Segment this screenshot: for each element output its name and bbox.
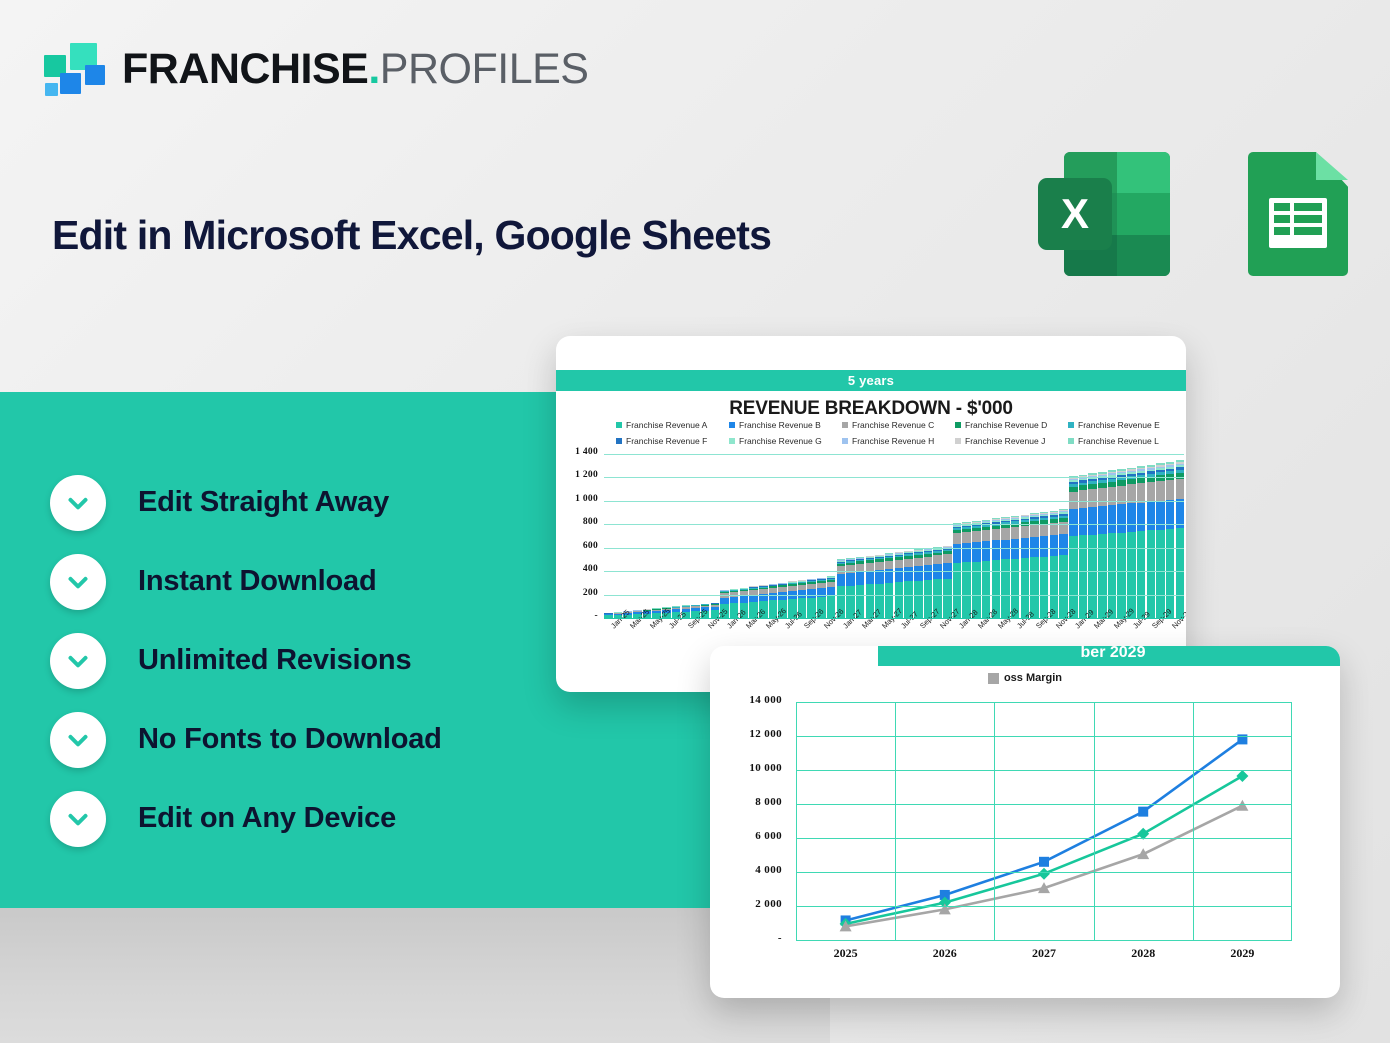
bar-segment <box>846 573 855 586</box>
bar-segment <box>1176 528 1185 618</box>
google-sheets-icon <box>1248 152 1348 276</box>
microsoft-excel-icon: X <box>1038 152 1170 276</box>
bar-segment <box>1147 502 1156 531</box>
bar-segment <box>837 566 846 573</box>
line-series <box>846 776 1243 924</box>
legend-item: Franchise Revenue A <box>616 420 729 430</box>
bar-segment <box>924 565 933 580</box>
bar-segment <box>1137 483 1146 502</box>
gridline <box>604 477 1184 478</box>
y-axis-tick-label: 6 000 <box>755 830 782 842</box>
bar-segment <box>1117 504 1126 532</box>
bar-segment <box>1098 506 1107 534</box>
legend-label: Franchise Revenue H <box>852 436 934 446</box>
data-point-marker <box>1236 800 1248 811</box>
bar-segment <box>1001 528 1010 539</box>
y-axis-tick-label: 800 <box>583 517 598 527</box>
gridline <box>796 702 1292 703</box>
y-axis-tick-label: 4 000 <box>755 864 782 876</box>
legend-swatch <box>955 422 961 428</box>
line-chart-svg <box>796 702 1292 940</box>
stacked-bar <box>846 558 855 618</box>
legend-swatch <box>729 422 735 428</box>
bar-segment <box>875 562 884 570</box>
feature-item: Edit on Any Device <box>50 779 442 858</box>
bar-segment <box>1127 503 1136 531</box>
line-chart-plot-area <box>796 702 1292 940</box>
bar-segment <box>1176 479 1185 499</box>
legend-label: Franchise Revenue G <box>739 436 822 446</box>
brand-name-bold: FRANCHISE <box>122 45 368 93</box>
gridline <box>796 804 1292 805</box>
excel-x-glyph: X <box>1038 178 1112 250</box>
bar-segment <box>914 558 923 566</box>
chevron-down-icon <box>50 475 106 531</box>
legend-swatch <box>842 422 848 428</box>
gridline <box>604 454 1184 455</box>
feature-item: Unlimited Revisions <box>50 621 442 700</box>
gridline <box>796 838 1292 839</box>
bar-segment <box>1156 481 1165 501</box>
x-axis-tick-label: 2026 <box>895 946 994 961</box>
brand-logo: FRANCHISE.PROFILES <box>44 43 588 95</box>
gridline <box>796 702 797 940</box>
stacked-bar <box>914 549 923 618</box>
brand-wordmark: FRANCHISE.PROFILES <box>122 45 588 94</box>
stacked-bar <box>962 522 971 618</box>
bar-chart-y-axis: -2004006008001 0001 2001 400 <box>556 336 602 636</box>
stacked-bar <box>1001 517 1010 618</box>
legend-label: Franchise Revenue L <box>1078 436 1159 446</box>
legend-label: Franchise Revenue E <box>1078 420 1160 430</box>
bar-segment <box>1079 508 1088 535</box>
bar-segment <box>1001 540 1010 560</box>
legend-item: Franchise Revenue F <box>616 436 729 446</box>
bar-chart-bars <box>604 454 1184 618</box>
gridline <box>604 524 1184 525</box>
data-point-marker <box>1039 857 1049 867</box>
legend-label: Franchise Revenue B <box>739 420 821 430</box>
bar-segment <box>1098 534 1107 618</box>
bar-segment <box>904 567 913 582</box>
bar-segment <box>1030 557 1039 618</box>
bar-segment <box>1108 533 1117 618</box>
bar-segment <box>1166 480 1175 500</box>
legend-label: Franchise Revenue J <box>965 436 1045 446</box>
feature-item-label: No Fonts to Download <box>138 723 442 756</box>
data-point-marker <box>1137 848 1149 859</box>
stacked-bar <box>1117 469 1126 618</box>
bar-segment <box>1059 555 1068 618</box>
legend-swatch <box>729 438 735 444</box>
bar-segment <box>817 588 826 597</box>
bar-segment <box>1030 525 1039 537</box>
line-chart-banner: ber 2029 <box>878 646 1340 666</box>
line-series <box>846 739 1243 920</box>
bar-segment <box>1137 503 1146 532</box>
bar-segment <box>866 571 875 585</box>
bar-segment <box>856 572 865 585</box>
stacked-bar <box>1040 512 1049 618</box>
y-axis-tick-label: 10 000 <box>749 762 782 774</box>
legend-item: Franchise Revenue C <box>842 420 955 430</box>
legend-swatch <box>1068 422 1074 428</box>
bar-segment <box>1156 530 1165 618</box>
bar-segment <box>953 533 962 544</box>
bar-segment <box>943 554 952 563</box>
gridline <box>604 501 1184 502</box>
legend-label: Franchise Revenue C <box>852 420 934 430</box>
feature-list: Edit Straight AwayInstant DownloadUnlimi… <box>50 463 442 858</box>
x-axis-tick-label: 2025 <box>796 946 895 961</box>
bar-segment <box>914 566 923 581</box>
x-axis-tick-label: 2027 <box>994 946 1093 961</box>
gridline <box>994 702 995 940</box>
gridline <box>796 940 1292 941</box>
y-axis-tick-label: 1 200 <box>575 470 598 480</box>
bar-segment <box>1011 527 1020 538</box>
bar-segment <box>992 540 1001 560</box>
feature-item-label: Unlimited Revisions <box>138 644 411 677</box>
legend-label: oss Margin <box>1004 672 1062 684</box>
gridline <box>796 906 1292 907</box>
data-point-marker <box>1138 807 1148 817</box>
bar-segment <box>1079 490 1088 508</box>
legend-item: Franchise Revenue B <box>729 420 842 430</box>
stacked-bar <box>1050 511 1059 618</box>
y-axis-tick-label: 12 000 <box>749 728 782 740</box>
bar-segment <box>972 531 981 542</box>
feature-item: No Fonts to Download <box>50 700 442 779</box>
bar-segment <box>1108 487 1117 506</box>
legend-item: Franchise Revenue J <box>955 436 1068 446</box>
legend-item: Franchise Revenue E <box>1068 420 1181 430</box>
gridline <box>604 548 1184 549</box>
legend-label: Franchise Revenue A <box>626 420 707 430</box>
gridline <box>604 571 1184 572</box>
feature-item: Instant Download <box>50 542 442 621</box>
legend-swatch <box>988 673 999 684</box>
chevron-down-icon <box>50 554 106 610</box>
stacked-bar <box>904 551 913 618</box>
brand-name-light: PROFILES <box>380 45 589 93</box>
data-point-marker <box>1038 868 1050 880</box>
bar-segment <box>1040 557 1049 618</box>
bar-segment <box>904 559 913 567</box>
bar-segment <box>1059 534 1068 555</box>
gridline <box>1291 702 1292 940</box>
bar-segment <box>1156 501 1165 530</box>
y-axis-tick-label: 1 000 <box>575 494 598 504</box>
legend-swatch <box>1068 438 1074 444</box>
legend-label: Franchise Revenue D <box>965 420 1047 430</box>
legend-item: Franchise Revenue G <box>729 436 842 446</box>
bar-chart-banner: 5 years <box>556 370 1186 391</box>
feature-item-label: Edit on Any Device <box>138 802 396 835</box>
bar-segment <box>972 542 981 561</box>
bar-segment <box>1147 482 1156 501</box>
bar-segment <box>1098 488 1107 506</box>
bar-segment <box>982 541 991 560</box>
gridline <box>796 770 1292 771</box>
bar-segment <box>962 532 971 543</box>
bar-segment <box>1050 535 1059 556</box>
bar-segment <box>749 595 758 602</box>
bar-chart-legend: Franchise Revenue AFranchise Revenue BFr… <box>616 420 1181 446</box>
squares-logo-icon <box>44 43 106 95</box>
bar-segment <box>962 543 971 562</box>
stacked-bar <box>1079 475 1088 618</box>
y-axis-tick-label: - <box>778 932 782 944</box>
bar-segment <box>1108 505 1117 533</box>
bar-segment <box>1117 533 1126 619</box>
gridline <box>796 872 1292 873</box>
axis-baseline <box>604 618 1184 619</box>
stacked-bar <box>885 553 894 618</box>
x-axis-tick-label: 2028 <box>1094 946 1193 961</box>
legend-swatch <box>842 438 848 444</box>
legend-swatch <box>616 438 622 444</box>
bar-segment <box>933 555 942 564</box>
brand-dot: . <box>368 45 379 93</box>
chevron-down-icon <box>50 712 106 768</box>
stacked-bar <box>992 518 1001 618</box>
stacked-bar <box>1021 515 1030 618</box>
profit-forecast-card: ber 2029 oss Margin -2 0004 0006 0008 00… <box>710 646 1340 998</box>
data-point-marker <box>1236 770 1248 782</box>
bar-segment <box>866 563 875 571</box>
y-axis-tick-label: 400 <box>583 564 598 574</box>
gridline <box>1193 702 1194 940</box>
bar-segment <box>1166 529 1175 618</box>
bar-segment <box>1040 524 1049 536</box>
y-axis-tick-label: 600 <box>583 541 598 551</box>
bar-segment <box>1069 509 1078 536</box>
stacked-bar <box>1098 472 1107 618</box>
stacked-bar <box>972 521 981 618</box>
gridline <box>895 702 896 940</box>
feature-item-label: Instant Download <box>138 565 376 598</box>
y-axis-tick-label: 14 000 <box>749 694 782 706</box>
bar-segment <box>778 592 787 600</box>
bar-segment <box>1127 532 1136 618</box>
bar-segment <box>1021 558 1030 618</box>
bar-chart-title: REVENUE BREAKDOWN - $'000 <box>556 398 1186 420</box>
chevron-down-icon <box>50 633 106 689</box>
gray-background-strip <box>0 908 830 1043</box>
bar-segment <box>1137 531 1146 618</box>
legend-item: oss Margin <box>988 672 1062 684</box>
stacked-bar <box>1030 513 1039 618</box>
feature-item: Edit Straight Away <box>50 463 442 542</box>
gridline <box>604 595 1184 596</box>
legend-item: Franchise Revenue D <box>955 420 1068 430</box>
stacked-bar <box>943 546 952 618</box>
y-axis-tick-label: 8 000 <box>755 796 782 808</box>
stacked-bar <box>1088 473 1097 618</box>
bar-segment <box>1001 559 1010 618</box>
bar-segment <box>837 574 846 587</box>
y-axis-tick-label: 200 <box>583 588 598 598</box>
legend-label: Franchise Revenue F <box>626 436 707 446</box>
gridline <box>796 736 1292 737</box>
bar-segment <box>885 561 894 569</box>
app-icons-group: X <box>1038 152 1348 276</box>
legend-item: Franchise Revenue L <box>1068 436 1181 446</box>
bar-segment <box>895 568 904 582</box>
feature-item-label: Edit Straight Away <box>138 486 389 519</box>
bar-segment <box>1021 526 1030 538</box>
bar-segment <box>895 560 904 568</box>
y-axis-tick-label: 1 400 <box>575 447 598 457</box>
x-axis-tick-label: 2029 <box>1193 946 1292 961</box>
stacked-bar <box>982 520 991 618</box>
bar-segment <box>740 596 749 603</box>
stacked-bar <box>1059 509 1068 618</box>
stacked-bar <box>924 548 933 618</box>
line-chart-x-axis: 20252026202720282029 <box>796 946 1292 961</box>
page-headline: Edit in Microsoft Excel, Google Sheets <box>52 212 771 259</box>
revenue-breakdown-card: 5 years REVENUE BREAKDOWN - $'000 Franch… <box>556 336 1186 692</box>
legend-item: Franchise Revenue H <box>842 436 955 446</box>
line-chart-y-axis: -2 0004 0006 0008 00010 00012 00014 000 <box>710 646 790 966</box>
bar-segment <box>1040 536 1049 557</box>
bar-segment <box>924 557 933 566</box>
line-chart-legend: oss Margin <box>710 672 1340 684</box>
bar-segment <box>1088 489 1097 507</box>
stacked-bar <box>866 556 875 618</box>
bar-segment <box>1088 507 1097 534</box>
bar-segment <box>982 530 991 541</box>
legend-swatch <box>616 422 622 428</box>
legend-swatch <box>955 438 961 444</box>
stacked-bar <box>1011 516 1020 618</box>
bar-segment <box>992 529 1001 540</box>
stacked-bar <box>1108 470 1117 618</box>
bar-segment <box>1147 530 1156 618</box>
y-axis-tick-label: - <box>595 611 598 621</box>
chevron-down-icon <box>50 791 106 847</box>
bar-segment <box>807 589 816 597</box>
gridline <box>1094 702 1095 940</box>
y-axis-tick-label: 2 000 <box>755 898 782 910</box>
